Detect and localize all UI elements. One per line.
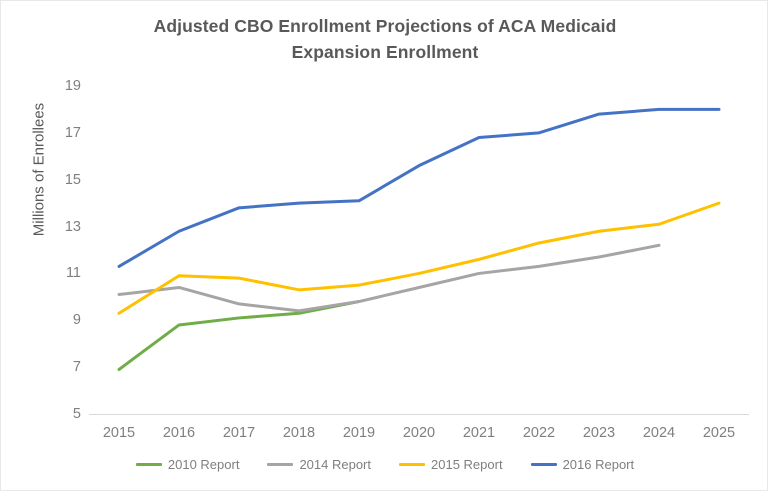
- y-tick-7: 7: [41, 360, 81, 375]
- legend-item-2016-report[interactable]: 2016 Report: [531, 457, 635, 472]
- legend-item-2010-report[interactable]: 2010 Report: [136, 457, 240, 472]
- legend-swatch-icon: [267, 463, 293, 466]
- x-tick-2024: 2024: [629, 425, 689, 442]
- x-tick-2021: 2021: [449, 425, 509, 442]
- legend-label: 2015 Report: [431, 457, 503, 472]
- y-tick-11: 11: [41, 266, 81, 281]
- chart-legend: 2010 Report2014 Report2015 Report2016 Re…: [1, 457, 768, 472]
- x-tick-2019: 2019: [329, 425, 389, 442]
- legend-label: 2010 Report: [168, 457, 240, 472]
- legend-swatch-icon: [136, 463, 162, 466]
- y-tick-17: 17: [41, 126, 81, 141]
- x-tick-2020: 2020: [389, 425, 449, 442]
- legend-swatch-icon: [399, 463, 425, 466]
- x-tick-2017: 2017: [209, 425, 269, 442]
- legend-label: 2014 Report: [299, 457, 371, 472]
- y-tick-15: 15: [41, 172, 81, 187]
- legend-item-2015-report[interactable]: 2015 Report: [399, 457, 503, 472]
- y-axis-tick-labels: 1917151311975: [31, 1, 81, 492]
- chart-title: Adjusted CBO Enrollment Projections of A…: [85, 13, 685, 65]
- legend-item-2014-report[interactable]: 2014 Report: [267, 457, 371, 472]
- y-tick-19: 19: [41, 79, 81, 94]
- x-tick-2015: 2015: [89, 425, 149, 442]
- legend-swatch-icon: [531, 463, 557, 466]
- legend-label: 2016 Report: [563, 457, 635, 472]
- y-tick-13: 13: [41, 219, 81, 234]
- line-2010-report: [119, 302, 359, 370]
- chart-title-line-1: Adjusted CBO Enrollment Projections of A…: [154, 16, 617, 36]
- x-tick-2023: 2023: [569, 425, 629, 442]
- y-tick-5: 5: [41, 407, 81, 422]
- x-tick-2018: 2018: [269, 425, 329, 442]
- line-2016-report: [119, 109, 719, 266]
- x-axis-tick-labels: 2015201620172018201920202021202220232024…: [89, 425, 749, 449]
- x-tick-2025: 2025: [689, 425, 749, 442]
- x-tick-2022: 2022: [509, 425, 569, 442]
- y-tick-9: 9: [41, 313, 81, 328]
- chart-title-line-2: Expansion Enrollment: [292, 42, 479, 62]
- plot-area: [89, 81, 749, 421]
- x-tick-2016: 2016: [149, 425, 209, 442]
- series-lines: [89, 81, 749, 421]
- chart-container: Adjusted CBO Enrollment Projections of A…: [0, 0, 768, 491]
